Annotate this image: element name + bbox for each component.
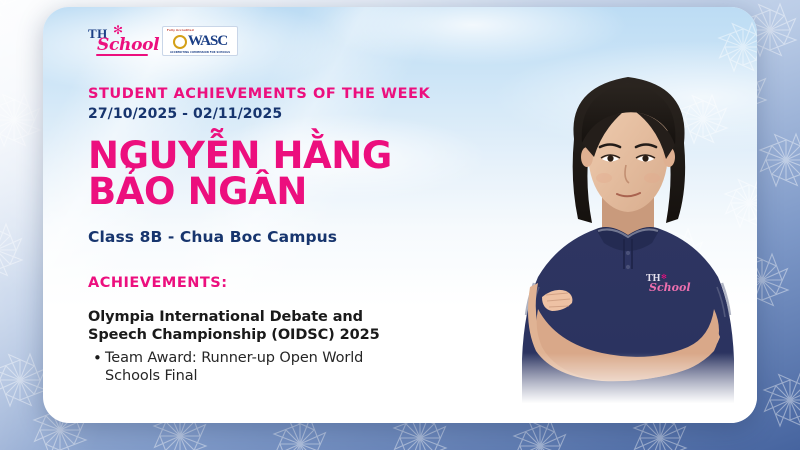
student-class-campus: Class 8B - Chua Boc Campus [88, 228, 448, 246]
th-school-script: School [97, 35, 159, 55]
list-item: Team Award: Runner-up Open World Schools… [105, 350, 405, 385]
wasc-letters: WASC [188, 34, 227, 49]
ring-icon [173, 35, 187, 49]
section-eyebrow: STUDENT ACHIEVEMENTS OF THE WEEK [88, 85, 448, 103]
achievements-heading: ACHIEVEMENTS: [88, 275, 448, 291]
th-school-underline [96, 54, 148, 56]
th-school-logo: TH ✻ School [88, 25, 152, 57]
achievement-title: Olympia International Debate and Speech … [88, 308, 388, 344]
svg-text:✻: ✻ [661, 273, 667, 281]
student-name-line-1: NGUYỄN HẰNG [88, 138, 448, 174]
achievement-card: TH ✻ School [43, 7, 757, 423]
svg-text:School: School [649, 281, 691, 294]
wasc-bottom-text: ACCREDITING COMMISSION FOR SCHOOLS [163, 51, 237, 54]
student-name: NGUYỄN HẰNG BẢO NGÂN [88, 138, 448, 211]
date-range: 27/10/2025 - 02/11/2025 [88, 106, 448, 122]
achievement-items: Team Award: Runner-up Open World Schools… [88, 350, 448, 385]
wasc-top-text: Fully Accredited [167, 29, 194, 32]
photo-bottom-fade [498, 353, 757, 423]
wasc-mark: WASC [173, 34, 227, 49]
content-column: STUDENT ACHIEVEMENTS OF THE WEEK 27/10/2… [88, 85, 448, 385]
logo-row: TH ✻ School Fully Accredited WASC ACCRED… [88, 25, 238, 57]
student-name-line-2: BẢO NGÂN [88, 174, 448, 210]
wasc-logo: Fully Accredited WASC ACCREDITING COMMIS… [162, 26, 238, 56]
